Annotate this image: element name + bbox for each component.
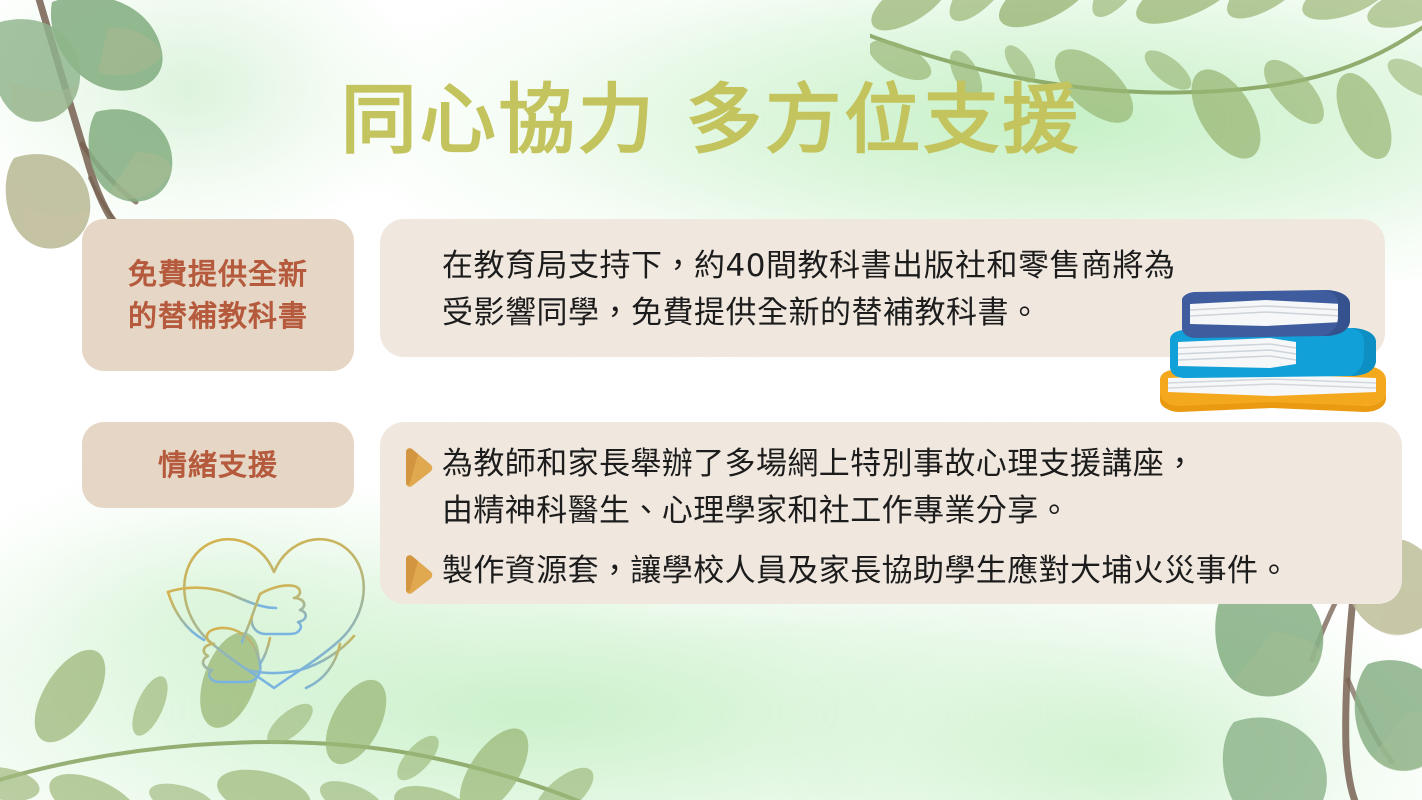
stack-of-books-icon: [1154, 288, 1392, 414]
section-label-line: 免費提供全新: [128, 253, 308, 295]
bullet-item: 製作資源套，讓學校人員及家長協助學生應對大埔火災事件。: [400, 548, 1378, 595]
triangle-bullet-icon: [400, 554, 434, 594]
bullet-line: 製作資源套，讓學校人員及家長協助學生應對大埔火災事件。: [442, 548, 1290, 595]
body-line: 在教育局支持下，約40間教科書出版社和零售商將為: [442, 243, 1345, 290]
section-label-line: 情緒支援: [158, 444, 278, 486]
watercolor-wash-bottom-right: [780, 570, 1422, 800]
bullet-text: 製作資源套，讓學校人員及家長協助學生應對大埔火災事件。: [442, 548, 1290, 595]
section-label-textbooks: 免費提供全新 的替補教科書: [82, 219, 354, 371]
bullet-item: 為教師和家長舉辦了多場網上特別事故心理支援講座， 由精神科醫生、心理學家和社工作…: [400, 441, 1378, 534]
triangle-bullet-icon: [400, 447, 434, 487]
bullet-line: 由精神科醫生、心理學家和社工作專業分享。: [442, 488, 1196, 535]
bullet-line: 為教師和家長舉辦了多場網上特別事故心理支援講座，: [442, 441, 1196, 488]
page-title: 同心協力 多方位支援: [0, 80, 1422, 160]
heart-hug-icon: [164, 516, 386, 698]
slide-canvas: 同心協力 多方位支援 免費提供全新 的替補教科書 在教育局支持下，約40間教科書…: [0, 0, 1422, 800]
section-label-emotional-support: 情緒支援: [82, 422, 354, 508]
section-label-line: 的替補教科書: [128, 295, 308, 337]
section-content-emotional-support: 為教師和家長舉辦了多場網上特別事故心理支援講座， 由精神科醫生、心理學家和社工作…: [380, 422, 1402, 604]
bullet-text: 為教師和家長舉辦了多場網上特別事故心理支援講座， 由精神科醫生、心理學家和社工作…: [442, 441, 1196, 534]
